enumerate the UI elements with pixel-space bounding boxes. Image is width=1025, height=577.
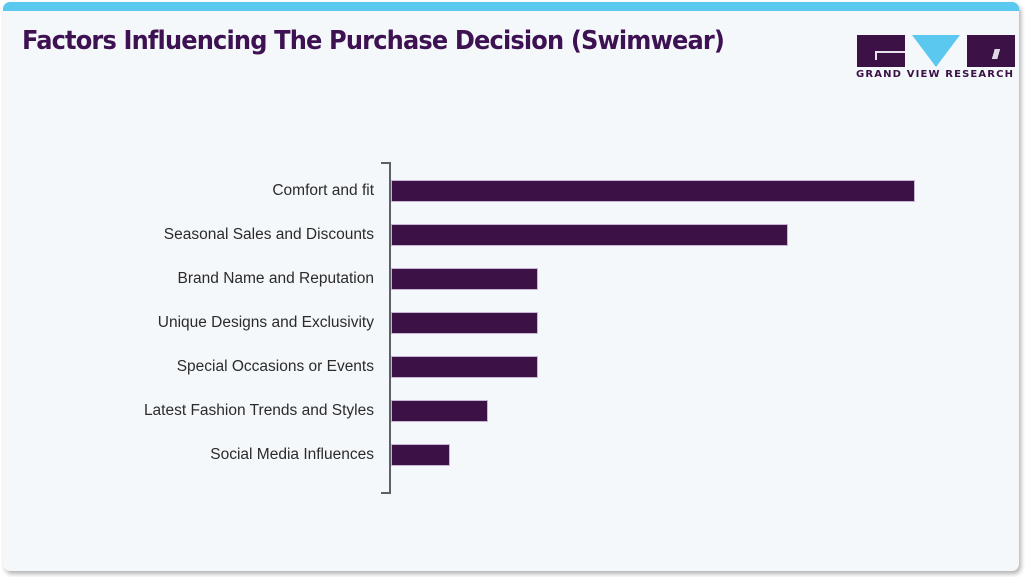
category-label: Latest Fashion Trends and Styles <box>144 400 374 422</box>
bar-0[interactable] <box>391 180 915 202</box>
category-label: Comfort and fit <box>272 180 374 202</box>
category-label: Social Media Influences <box>210 444 374 466</box>
bar-3[interactable] <box>391 312 538 334</box>
category-label: Unique Designs and Exclusivity <box>158 312 374 334</box>
category-label: Seasonal Sales and Discounts <box>164 224 374 246</box>
chart-row: Brand Name and Reputation <box>3 268 1019 290</box>
bar-1[interactable] <box>391 224 788 246</box>
chart-row: Unique Designs and Exclusivity <box>3 312 1019 334</box>
chart-row: Social Media Influences <box>3 444 1019 466</box>
category-label: Special Occasions or Events <box>177 356 374 378</box>
chart-card: Factors Influencing The Purchase Decisio… <box>3 2 1019 571</box>
y-axis-cap-bottom <box>381 492 389 494</box>
chart-row: Comfort and fit <box>3 180 1019 202</box>
bar-4[interactable] <box>391 356 538 378</box>
chart-row: Seasonal Sales and Discounts <box>3 224 1019 246</box>
bar-6[interactable] <box>391 444 450 466</box>
category-label: Brand Name and Reputation <box>178 268 374 290</box>
chart-row: Special Occasions or Events <box>3 356 1019 378</box>
chart-row: Latest Fashion Trends and Styles <box>3 400 1019 422</box>
bar-5[interactable] <box>391 400 488 422</box>
bar-2[interactable] <box>391 268 538 290</box>
y-axis-cap-top <box>381 162 389 164</box>
bar-chart-plot: Comfort and fitSeasonal Sales and Discou… <box>3 2 1019 571</box>
